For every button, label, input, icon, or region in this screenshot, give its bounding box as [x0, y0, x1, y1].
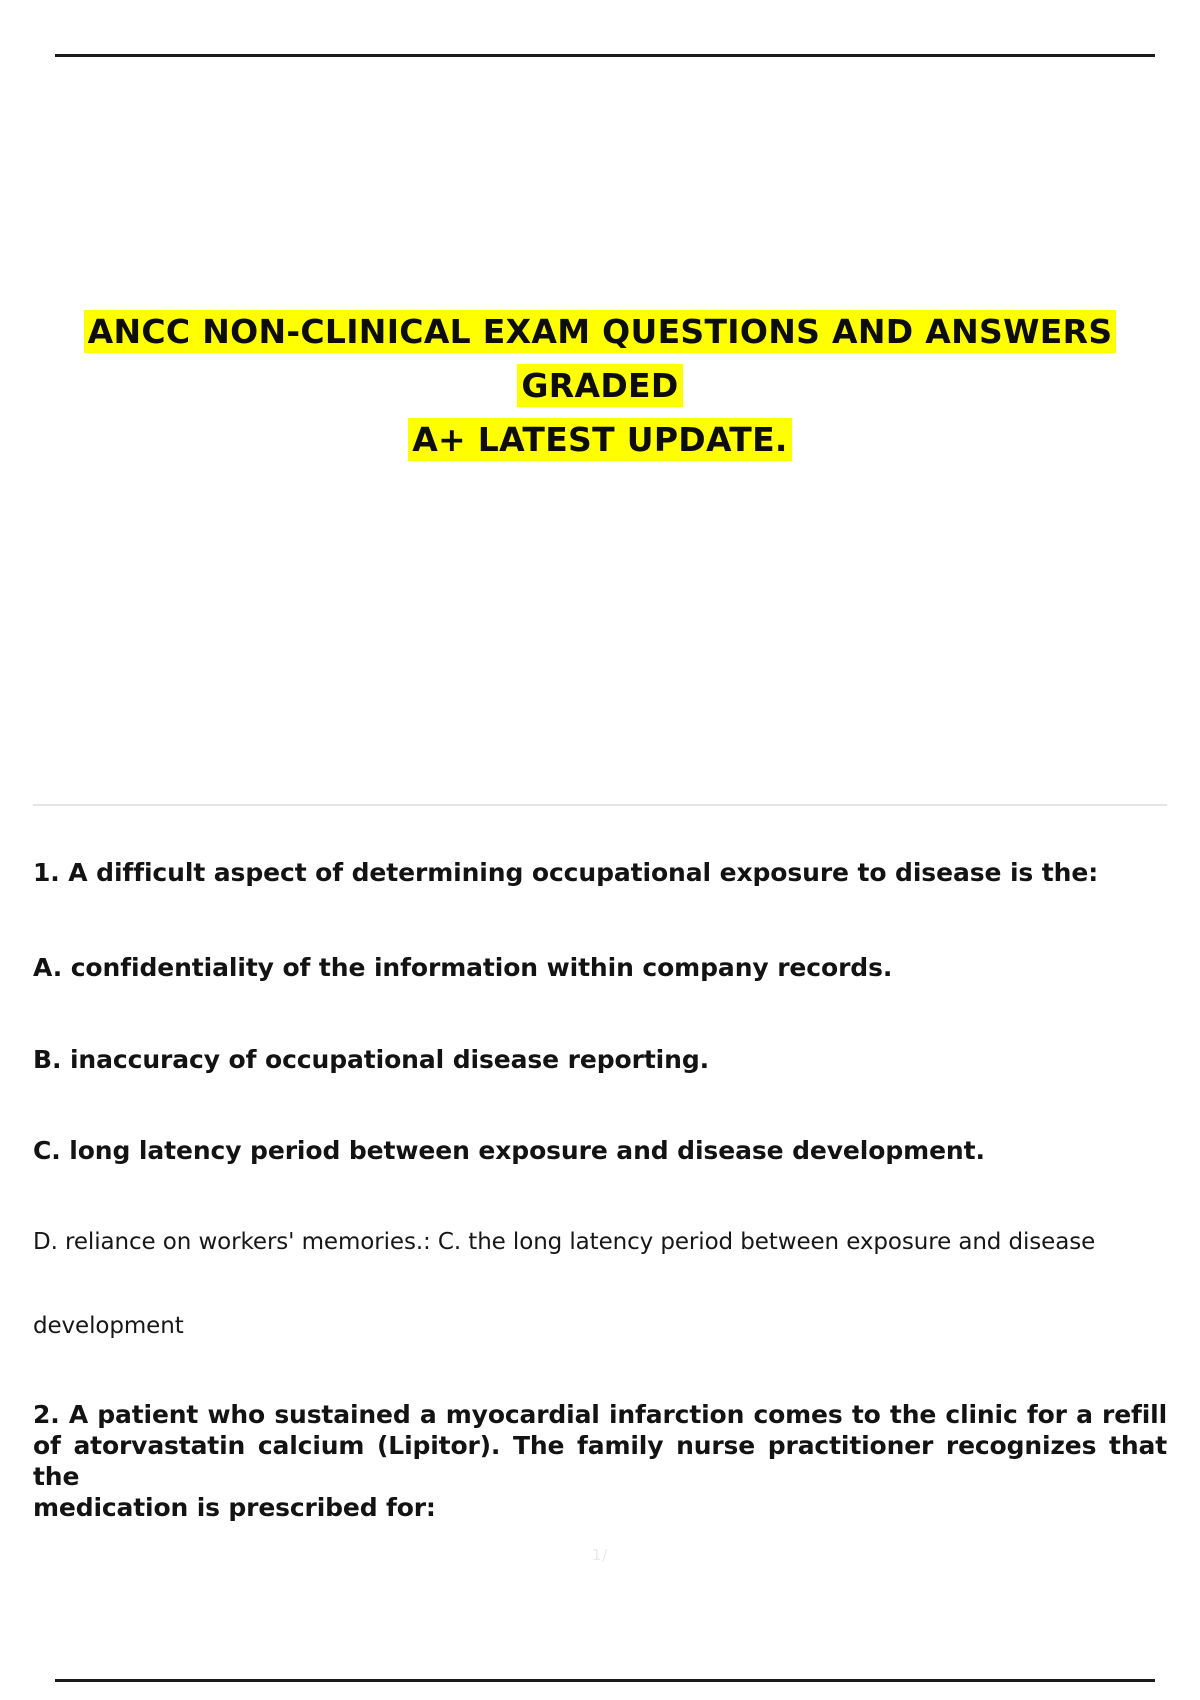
document-title: ANCC NON-CLINICAL EXAM QUESTIONS AND ANS…: [33, 305, 1167, 467]
question-1-answer-continuation: development: [33, 1309, 1167, 1343]
question-2-stem-head: 2. A patient who sustained a myocardial …: [33, 1400, 1167, 1491]
title-line-1: ANCC NON-CLINICAL EXAM QUESTIONS AND ANS…: [33, 305, 1167, 413]
question-1-option-d: D. reliance on workers' memories.: C. th…: [33, 1225, 1167, 1259]
question-2-stem: 2. A patient who sustained a myocardial …: [33, 1399, 1167, 1523]
question-1-option-b: B. inaccuracy of occupational disease re…: [33, 1043, 1167, 1077]
question-1-option-a: A. confidentiality of the information wi…: [33, 951, 1167, 985]
document-page: ANCC NON-CLINICAL EXAM QUESTIONS AND ANS…: [0, 0, 1200, 1700]
footer-divider-rule: [55, 1679, 1155, 1682]
question-1-stem: 1. A difficult aspect of determining occ…: [33, 856, 1167, 890]
question-2-stem-tail: medication is prescribed for:: [33, 1492, 1167, 1523]
section-divider-rule: [33, 804, 1167, 806]
header-divider-rule: [55, 54, 1155, 57]
title-highlight-1: ANCC NON-CLINICAL EXAM QUESTIONS AND ANS…: [84, 310, 1117, 407]
questions-container: 1. A difficult aspect of determining occ…: [33, 856, 1167, 1523]
page-number-marker: 1/: [0, 1546, 1200, 1564]
title-line-2: A+ LATEST UPDATE.: [33, 413, 1167, 467]
question-1-option-c: C. long latency period between exposure …: [33, 1134, 1167, 1168]
title-highlight-2: A+ LATEST UPDATE.: [408, 418, 792, 461]
